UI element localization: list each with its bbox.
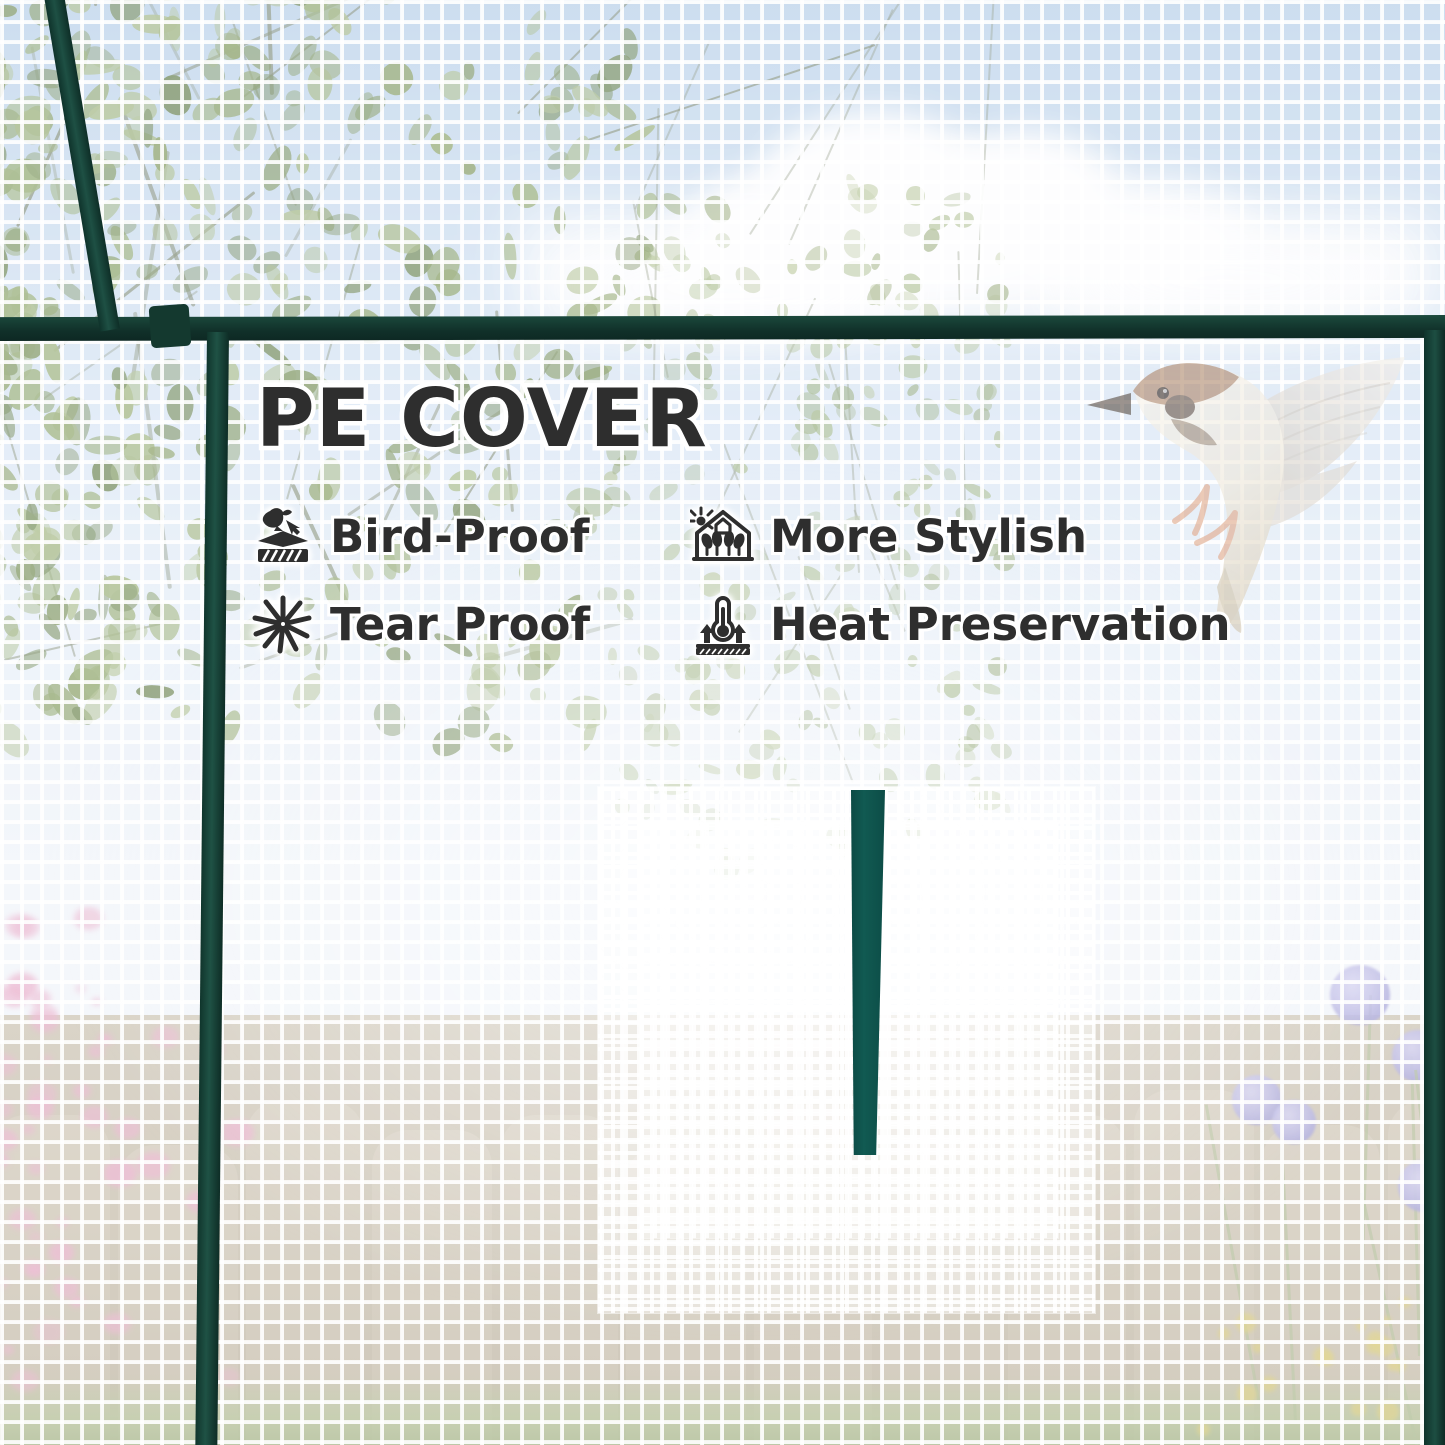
product-feature-image: PE COVER bbox=[0, 0, 1445, 1445]
page-title: PE COVER bbox=[256, 379, 708, 459]
feature-row: Bird-Proof bbox=[250, 492, 1250, 580]
thermometer-arrows-icon bbox=[690, 591, 756, 657]
feature-item-heat-preservation: Heat Preservation bbox=[690, 591, 1231, 657]
feature-row: Tear Proof bbox=[250, 580, 1250, 668]
bird-on-mesh-icon bbox=[250, 503, 316, 569]
feature-label: More Stylish bbox=[770, 514, 1087, 559]
bird-beak bbox=[1087, 393, 1131, 415]
feature-label: Tear Proof bbox=[330, 602, 590, 647]
feature-label: Heat Preservation bbox=[770, 602, 1231, 647]
flap-inner-mesh-texture bbox=[640, 823, 1058, 1238]
frame-joint bbox=[149, 304, 192, 349]
feature-list: Bird-Proof bbox=[250, 492, 1250, 668]
greenhouse-sun-icon bbox=[690, 503, 756, 569]
frame-pole-right-edge bbox=[1424, 330, 1445, 1445]
feature-item-bird-proof: Bird-Proof bbox=[250, 503, 690, 569]
feature-item-tear-proof: Tear Proof bbox=[250, 591, 690, 657]
bird-cheek-patch bbox=[1165, 395, 1195, 419]
flap-inner-window bbox=[640, 823, 1058, 1238]
tear-burst-icon bbox=[250, 591, 316, 657]
feature-label: Bird-Proof bbox=[330, 514, 589, 559]
bird-eye bbox=[1157, 387, 1169, 399]
feature-item-more-stylish: More Stylish bbox=[690, 503, 1087, 569]
